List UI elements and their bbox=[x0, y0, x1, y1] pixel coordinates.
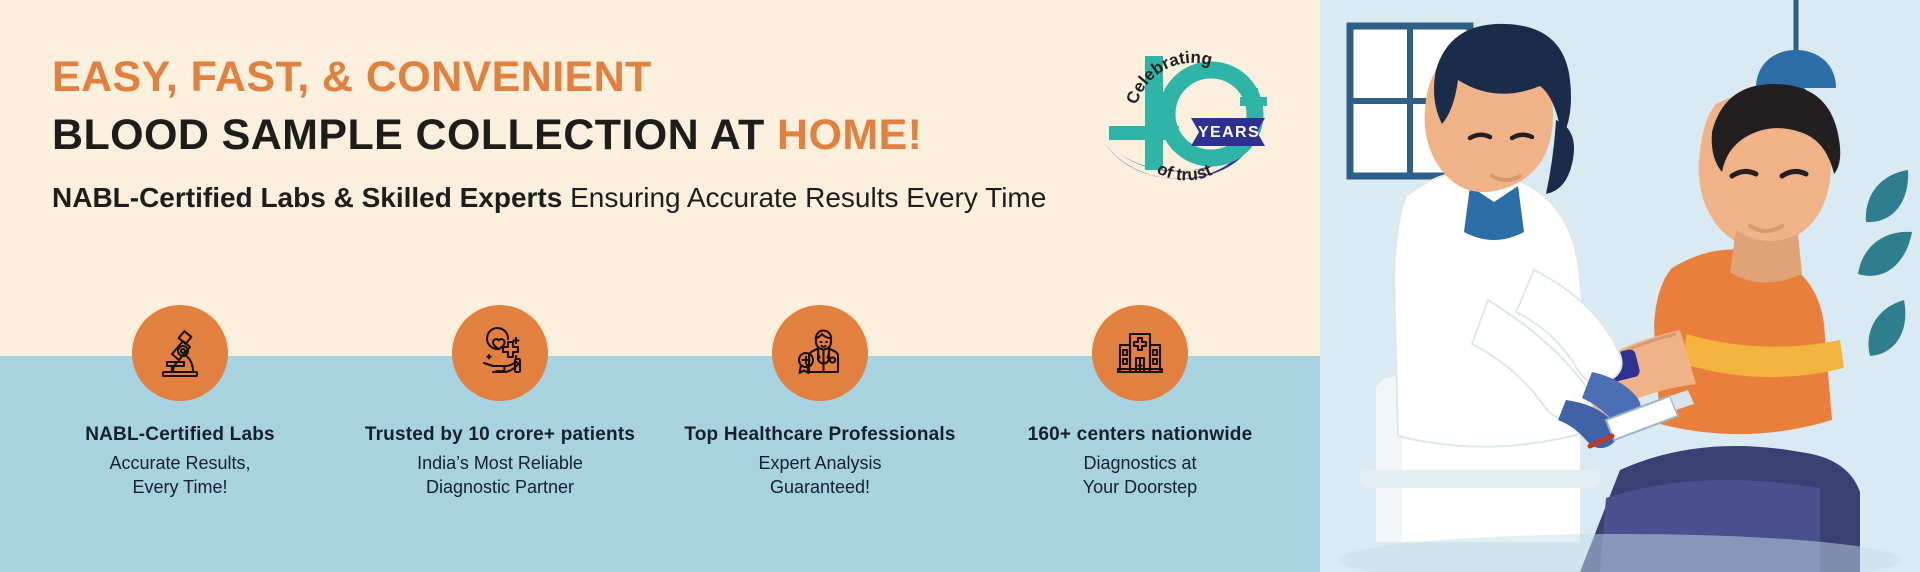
headline-line-1: EASY, FAST, & CONVENIENT bbox=[52, 55, 1052, 100]
feature-subtitle: Expert Analysis Guaranteed! bbox=[758, 452, 881, 500]
feature-title: Top Healthcare Professionals bbox=[684, 424, 955, 446]
doctor-badge-icon bbox=[772, 305, 868, 401]
feature-subtitle-line-2: Every Time! bbox=[109, 476, 250, 500]
headline-line-2-accent: HOME! bbox=[777, 111, 922, 159]
feature-subtitle: India’s Most Reliable Diagnostic Partner bbox=[417, 452, 583, 500]
feature-item[interactable]: Trusted by 10 crore+ patients India’s Mo… bbox=[340, 305, 660, 500]
feature-title: NABL-Certified Labs bbox=[85, 424, 275, 446]
feature-subtitle-line-1: Accurate Results, bbox=[109, 452, 250, 476]
feature-subtitle-line-2: Guaranteed! bbox=[758, 476, 881, 500]
feature-subtitle-line-2: Your Doorstep bbox=[1083, 476, 1197, 500]
hand-heart-care-icon bbox=[452, 305, 548, 401]
feature-subtitle-line-1: Diagnostics at bbox=[1083, 452, 1197, 476]
hospital-building-icon bbox=[1092, 305, 1188, 401]
feature-subtitle-line-1: India’s Most Reliable bbox=[417, 452, 583, 476]
microscope-icon bbox=[132, 305, 228, 401]
logo-years-text: YEARS bbox=[1198, 124, 1260, 141]
feature-title: Trusted by 10 crore+ patients bbox=[365, 424, 635, 446]
feature-subtitle: Diagnostics at Your Doorstep bbox=[1083, 452, 1197, 500]
subheading-strong: NABL-Certified Labs & Skilled Experts bbox=[52, 182, 562, 213]
feature-subtitle: Accurate Results, Every Time! bbox=[109, 452, 250, 500]
feature-item[interactable]: Top Healthcare Professionals Expert Anal… bbox=[660, 305, 980, 500]
subheading: NABL-Certified Labs & Skilled Experts En… bbox=[52, 182, 1052, 214]
feature-subtitle-line-2: Diagnostic Partner bbox=[417, 476, 583, 500]
headline-block: EASY, FAST, & CONVENIENT BLOOD SAMPLE CO… bbox=[52, 55, 1052, 214]
home-blood-collection-banner: EASY, FAST, & CONVENIENT BLOOD SAMPLE CO… bbox=[0, 0, 1920, 572]
headline-line-2-main: BLOOD SAMPLE COLLECTION AT bbox=[52, 111, 777, 159]
logo-of-trust-text: of trust bbox=[1154, 159, 1214, 185]
feature-list: NABL-Certified Labs Accurate Results, Ev… bbox=[20, 305, 1300, 500]
subheading-light: Ensuring Accurate Results Every Time bbox=[562, 182, 1046, 213]
feature-item[interactable]: NABL-Certified Labs Accurate Results, Ev… bbox=[20, 305, 340, 500]
feature-subtitle-line-1: Expert Analysis bbox=[758, 452, 881, 476]
feature-item[interactable]: 160+ centers nationwide Diagnostics at Y… bbox=[980, 305, 1300, 500]
feature-title: 160+ centers nationwide bbox=[1028, 424, 1253, 446]
blood-collection-illustration bbox=[1320, 0, 1920, 572]
headline-line-2: BLOOD SAMPLE COLLECTION AT HOME! bbox=[52, 113, 1052, 158]
anniversary-logo: YEARS Celebrating of trust bbox=[1093, 22, 1273, 187]
